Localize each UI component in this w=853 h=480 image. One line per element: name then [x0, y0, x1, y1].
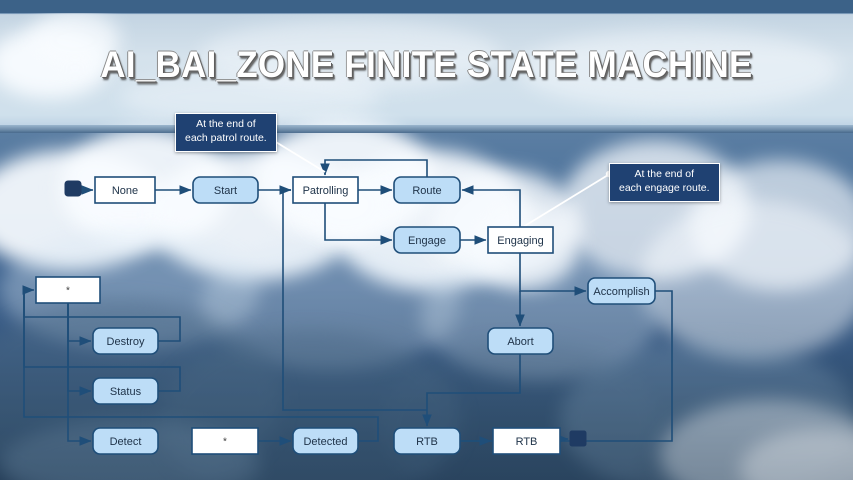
node-label: None [112, 185, 138, 197]
node-label: Patrolling [303, 185, 349, 197]
callout-line-1: At the end of [185, 118, 267, 132]
callout-engage-route[interactable]: At the end of each engage route. [609, 163, 720, 202]
node-label: Engage [408, 235, 446, 247]
callout-leader-lines [245, 121, 612, 227]
edge-detected-wildcard1 [24, 290, 378, 441]
node-label: Start [214, 185, 237, 197]
edge-engaging-route [462, 190, 520, 227]
callout-line-2: each engage route. [619, 182, 710, 196]
node-abort[interactable]: Abort [488, 328, 553, 354]
node-label: Status [110, 386, 142, 398]
edge-wildcard1-destroy [68, 303, 91, 341]
node-rtb-target[interactable]: RTB [493, 428, 560, 454]
edge-patrolling-engage [325, 203, 392, 240]
node-label: Abort [507, 336, 533, 348]
node-engaging[interactable]: Engaging [488, 227, 553, 253]
callout-line-2: each patrol route. [185, 132, 267, 146]
node-label: * [223, 437, 227, 448]
node-label: Destroy [107, 336, 145, 348]
node-label: Detected [303, 436, 347, 448]
node-label: * [66, 286, 70, 297]
node-patrolling[interactable]: Patrolling [293, 177, 358, 203]
node-destroy[interactable]: Destroy [93, 328, 158, 354]
state-machine-diagram: None Start Patrolling Route Engage Engag… [0, 0, 853, 480]
node-status[interactable]: Status [93, 378, 158, 404]
node-label: RTB [416, 436, 438, 448]
node-start[interactable]: Start [193, 177, 258, 203]
edge-engaging-accomplish [520, 253, 586, 291]
edge-abort-rtb [427, 354, 520, 426]
node-wildcard-2[interactable]: * [192, 428, 258, 454]
node-label: Detect [110, 436, 142, 448]
edge-wildcard1-detect [68, 303, 91, 441]
node-detected[interactable]: Detected [293, 428, 358, 454]
callout-line-1: At the end of [619, 168, 710, 182]
node-engage[interactable]: Engage [394, 227, 460, 253]
node-accomplish[interactable]: Accomplish [588, 278, 655, 304]
node-label: Accomplish [593, 286, 649, 298]
edge-accomplish-rtb [462, 291, 672, 441]
end-terminator [570, 431, 586, 446]
node-label: RTB [516, 436, 538, 448]
node-label: Engaging [497, 235, 544, 247]
edge-route-patrolling [325, 160, 427, 177]
edge-patrolling-rtb [283, 190, 427, 410]
node-rtb-source[interactable]: RTB [394, 428, 460, 454]
leader-line-engage [523, 175, 608, 227]
node-wildcard-1[interactable]: * [36, 277, 100, 303]
start-terminator [65, 181, 81, 196]
node-detect[interactable]: Detect [93, 428, 158, 454]
node-label: Route [412, 185, 441, 197]
node-none[interactable]: None [95, 177, 155, 203]
slide-canvas: AI_BAI_ZONE FINITE STATE MACHINE [0, 0, 853, 480]
callout-patrol-route[interactable]: At the end of each patrol route. [175, 113, 277, 152]
node-route[interactable]: Route [394, 177, 460, 203]
